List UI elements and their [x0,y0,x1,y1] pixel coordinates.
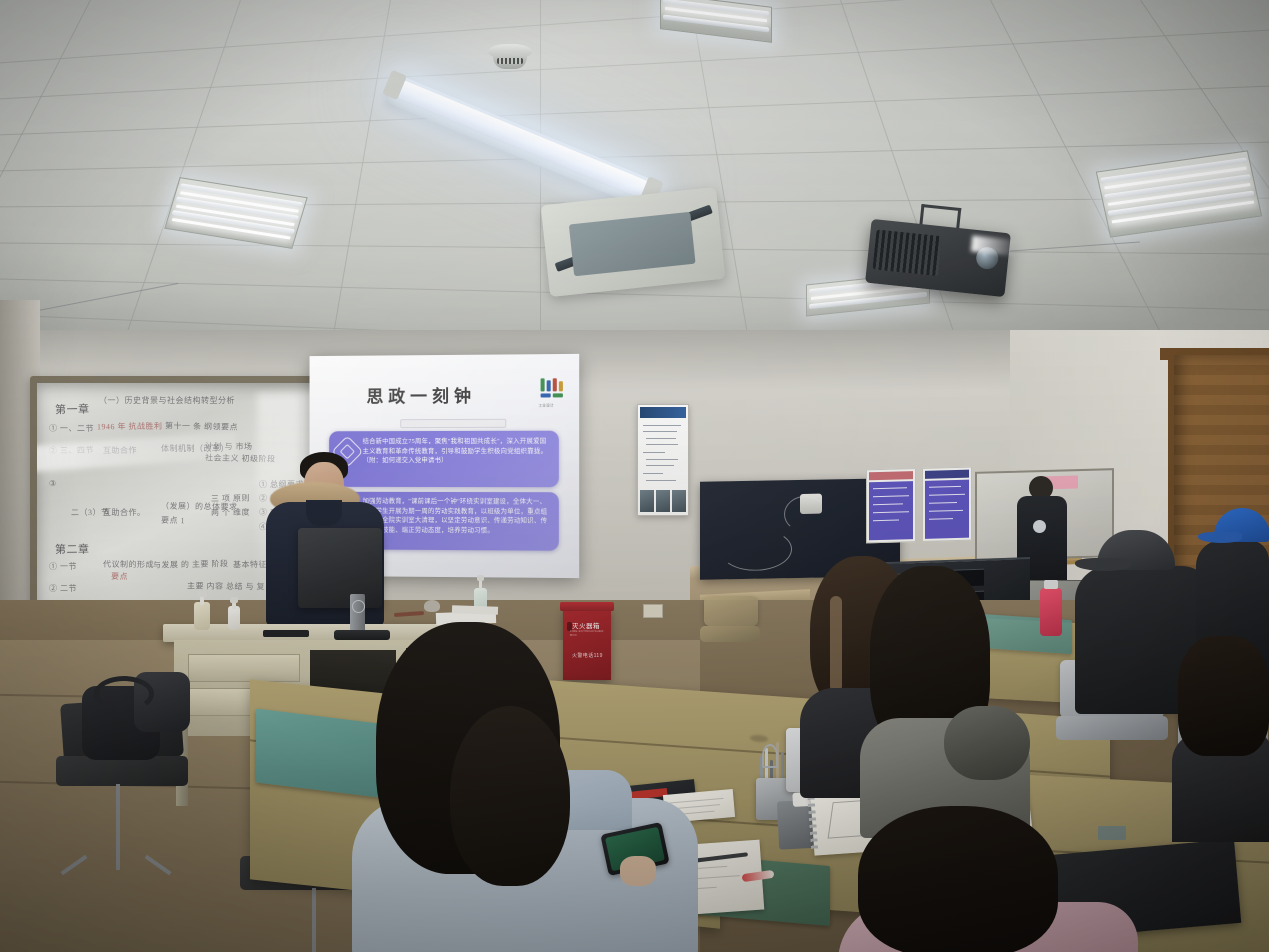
smoke-detector-icon [488,44,532,74]
desktop-monitor[interactable] [298,528,382,608]
whiteboard-line: 互助合作。 [103,507,146,518]
scissors-icon [762,744,778,768]
papers-on-desk-2 [452,605,498,615]
student-seated-b [860,566,1030,816]
ceiling [0,0,1269,360]
whiteboard-line: ② 二节 [49,583,77,594]
hand-sanitizer-bottle [228,602,240,630]
whiteboard-line: ① 一、二节 [49,423,94,434]
lotion-bottle [194,596,210,630]
chair-back-left[interactable] [700,596,760,670]
whiteboard-line: 与发展 的 主要 阶段 [153,558,229,571]
whiteboard-line: 第一章 [55,401,90,418]
keyboard[interactable] [263,630,309,637]
whiteboard-line: 要点 [111,571,128,582]
pink-water-bottle [1040,588,1062,636]
small-object-on-desk [424,600,440,612]
student-foreground-pink [848,806,1138,952]
wall-outlet[interactable] [643,604,663,618]
student-foreground-blue-jacket [352,620,698,952]
ceiling-air-conditioner [541,187,726,297]
dell-logo-icon [352,600,365,613]
backpack [82,672,190,764]
whiteboard-line: 要点 1 [161,515,185,527]
classroom-photo: 第一章1946 年 抗战胜利（一）历史背景与社会结构转型分析① 一、二节第十一 … [0,0,1269,952]
whiteboard-line: 代议制的形成 [103,559,154,571]
back-wall-posters [866,467,971,542]
safety-notice-poster [637,404,689,516]
whiteboard-line: 1946 年 抗战胜利 [97,421,163,433]
whiteboard-line: 两 个 维度 [211,507,250,518]
whiteboard-line: 三 项 原则 [211,493,250,505]
whiteboard-line: 第十一 条 纲领要点 [165,420,238,433]
whiteboard-line: （一）历史背景与社会结构转型分析 [99,395,235,406]
student-right-edge [1178,636,1269,836]
whiteboard-line: 第二章 [55,541,90,557]
whiteboard-line: ① 一节 [49,561,77,572]
whiteboard-line: ③ [49,479,57,488]
